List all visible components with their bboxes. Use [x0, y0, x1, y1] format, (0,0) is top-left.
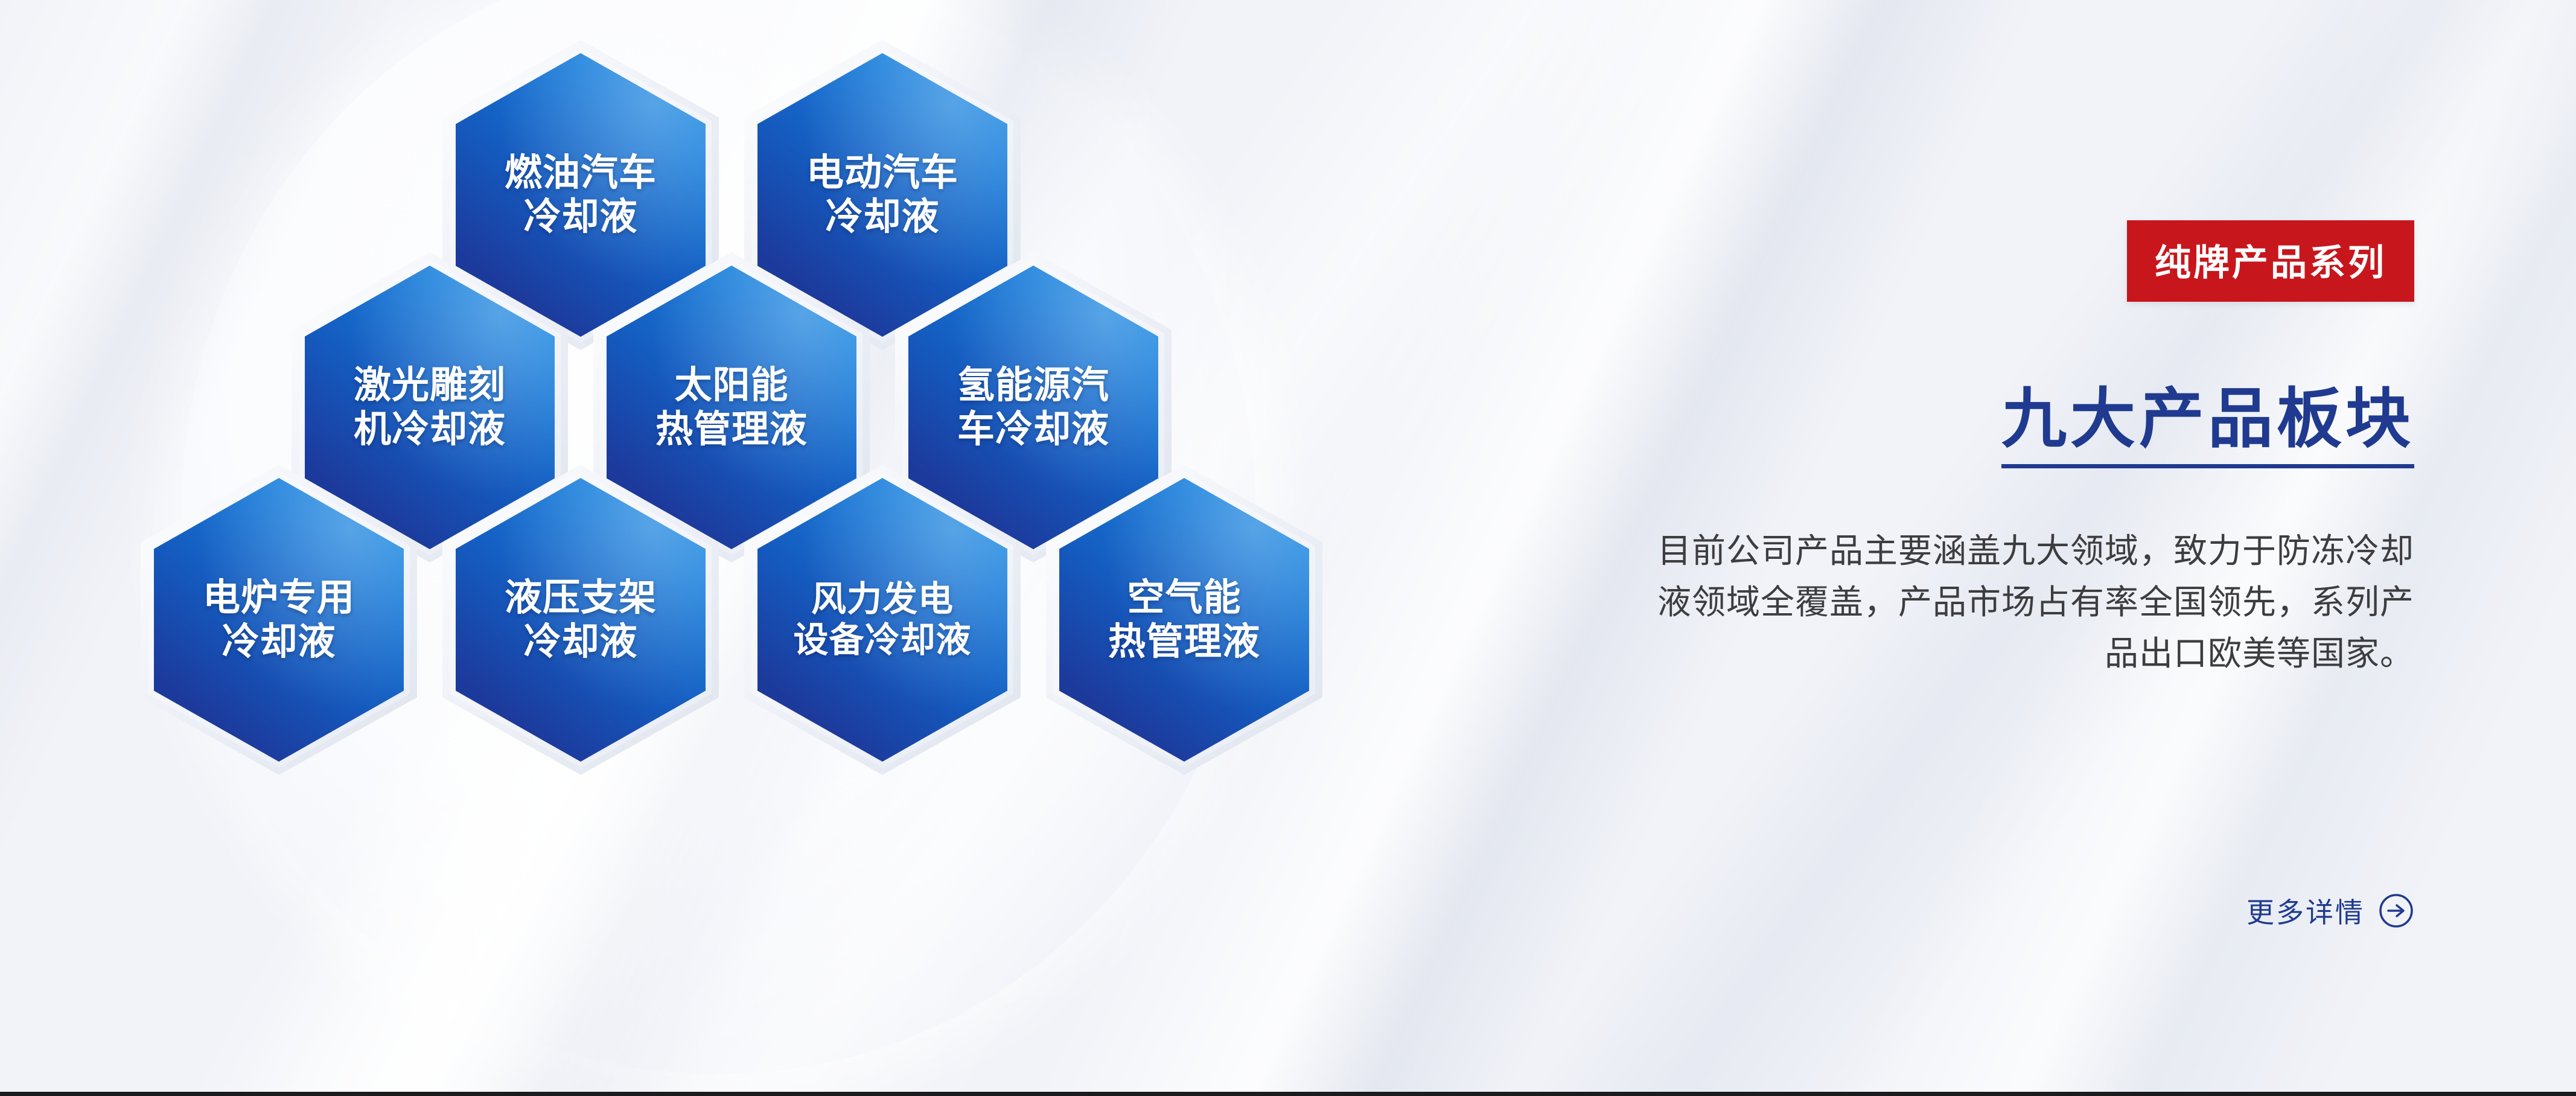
hex-air-source-thermal-fluid[interactable]: 空气能 热管理液 [1059, 478, 1309, 762]
page-title: 九大产品板块 [2001, 384, 2414, 454]
hex-label: 空气能 热管理液 [1100, 576, 1269, 664]
hex-label: 风力发电 设备冷却液 [785, 579, 980, 661]
hex-label: 电炉专用 冷却液 [194, 576, 363, 664]
promo-banner: 燃油汽车 冷却液 电动汽车 冷却液 激光雕刻 机冷却液 太阳能 热管理液 [0, 0, 2576, 1096]
page-title-block: 九大产品板块 [2001, 384, 2414, 468]
hex-label: 激光雕刻 机冷却液 [345, 363, 514, 451]
info-panel: 纯牌产品系列 九大产品板块 目前公司产品主要涵盖九大领域，致力于防冻冷却液领域全… [1467, 0, 2576, 1096]
hex-label: 液压支架 冷却液 [496, 576, 665, 664]
hex-label: 电动汽车 冷却液 [798, 151, 967, 239]
bottom-border [0, 1092, 2576, 1096]
status-badge: 纯牌产品系列 [2127, 220, 2414, 302]
hex-electric-furnace-coolant[interactable]: 电炉专用 冷却液 [154, 478, 404, 762]
hex-wind-power-equip-coolant[interactable]: 风力发电 设备冷却液 [757, 478, 1007, 762]
hex-label: 太阳能 热管理液 [647, 363, 816, 451]
title-underline [2001, 464, 2414, 468]
more-details-link[interactable]: 更多详情 [2246, 891, 2414, 931]
hex-label: 氢能源汽 车冷却液 [949, 363, 1118, 451]
description-text: 目前公司产品主要涵盖九大领域，致力于防冻冷却液领域全覆盖，产品市场占有率全国领先… [1630, 525, 2414, 679]
more-details-label: 更多详情 [2246, 891, 2365, 931]
arrow-right-circle-icon [2378, 893, 2414, 929]
product-hexagon-grid: 燃油汽车 冷却液 电动汽车 冷却液 激光雕刻 机冷却液 太阳能 热管理液 [0, 0, 1449, 1096]
hex-hydraulic-support-coolant[interactable]: 液压支架 冷却液 [456, 478, 706, 762]
hex-label: 燃油汽车 冷却液 [496, 151, 665, 239]
